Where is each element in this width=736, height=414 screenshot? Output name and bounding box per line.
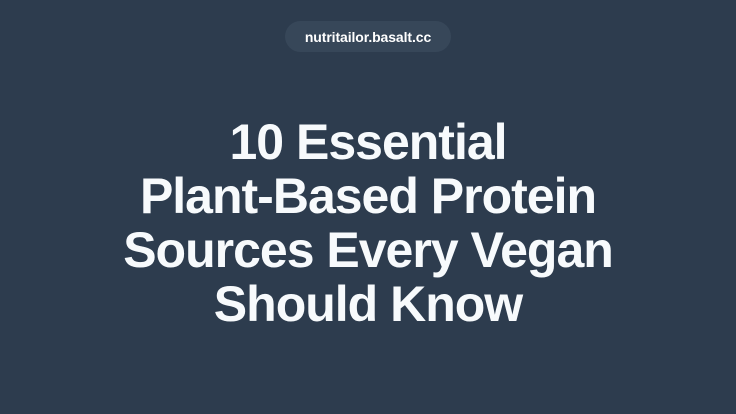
page-title: 10 Essential Plant-Based Protein Sources…	[48, 115, 688, 331]
page-title-line-1: 10 Essential	[48, 115, 688, 169]
page-title-line-4: Should Know	[48, 277, 688, 331]
share-preview-card: nutritailor.basalt.cc 10 Essential Plant…	[0, 0, 736, 414]
domain-badge: nutritailor.basalt.cc	[285, 21, 451, 52]
page-title-line-3: Sources Every Vegan	[48, 223, 688, 277]
domain-badge-label: nutritailor.basalt.cc	[305, 30, 431, 44]
headline-container: 10 Essential Plant-Based Protein Sources…	[0, 52, 736, 414]
page-title-line-2: Plant-Based Protein	[48, 169, 688, 223]
